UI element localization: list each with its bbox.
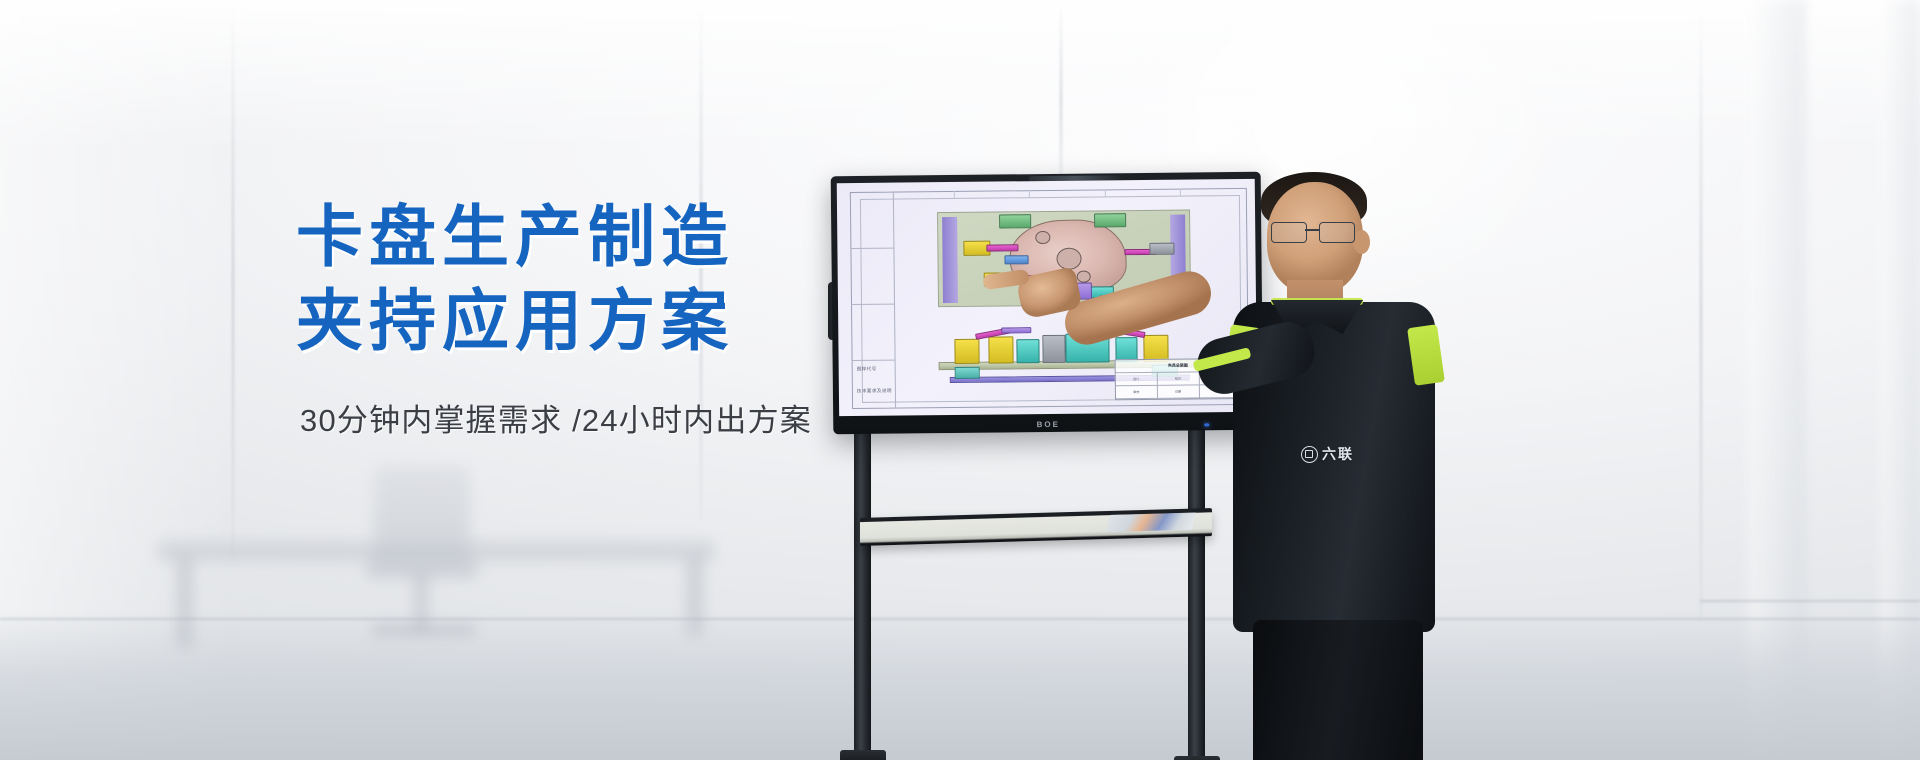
bore-center-icon: [1056, 248, 1081, 270]
base-leg-left: [955, 366, 980, 379]
margin-label-2: 技术要求及说明: [856, 387, 891, 394]
office-desk-leg-right: [686, 556, 702, 636]
bore-lower-icon: [1077, 271, 1091, 283]
eyeglasses-icon: [1271, 222, 1363, 242]
title-block-cell-0: 设计: [1116, 373, 1158, 387]
frame-tick-2: [1029, 190, 1030, 197]
presenter-person: 六联: [1175, 168, 1535, 760]
arm-purple-left: [1001, 327, 1032, 333]
frame-tick-1: [954, 191, 955, 198]
frame-tick-3: [1104, 190, 1105, 197]
bore-upper-icon: [1035, 231, 1050, 244]
ceiling-light-glow: [0, 0, 1920, 150]
boe-logo: BOE: [1037, 420, 1060, 429]
margin-label-1: 图样代号: [856, 365, 876, 372]
stand-shelf: [860, 508, 1212, 546]
lens-left: [1271, 222, 1307, 243]
block-grey-mid: [1042, 335, 1065, 363]
bracket-grey-right: [1149, 243, 1174, 256]
wall-seam-4: [1700, 0, 1702, 620]
clamp-magenta-left: [986, 244, 1018, 251]
office-chair-base: [372, 624, 476, 636]
wall-seam-1: [232, 0, 234, 560]
floor-joint-right: [1700, 600, 1920, 602]
glasses-bridge: [1305, 229, 1319, 231]
clamp-green-top-right: [1094, 213, 1126, 227]
company-name-label: 六联: [1322, 444, 1354, 464]
locator-blue-left: [1004, 255, 1029, 264]
cylinder-yellow-2: [988, 337, 1014, 364]
office-desk-leg-left: [176, 556, 192, 648]
clamp-green-top-left: [999, 214, 1031, 228]
chest-logo: 六联: [1301, 444, 1354, 464]
stand-foot-left: [840, 750, 886, 760]
office-chair-post: [414, 572, 428, 630]
lens-right: [1319, 222, 1355, 243]
fixture-rail-left: [942, 217, 958, 303]
company-emblem-icon: [1301, 446, 1318, 463]
hero-banner: 卡盘生产制造 夹持应用方案 30分钟内掌握需求 /24小时内出方案 BOE: [0, 0, 1920, 760]
title-block-cell-3: 审核: [1116, 386, 1158, 400]
stand-column-left: [854, 428, 871, 760]
cylinder-cyan-1: [1016, 339, 1039, 363]
office-desk-top: [158, 540, 714, 560]
cylinder-yellow-1: [954, 338, 980, 364]
trousers: [1253, 620, 1423, 760]
